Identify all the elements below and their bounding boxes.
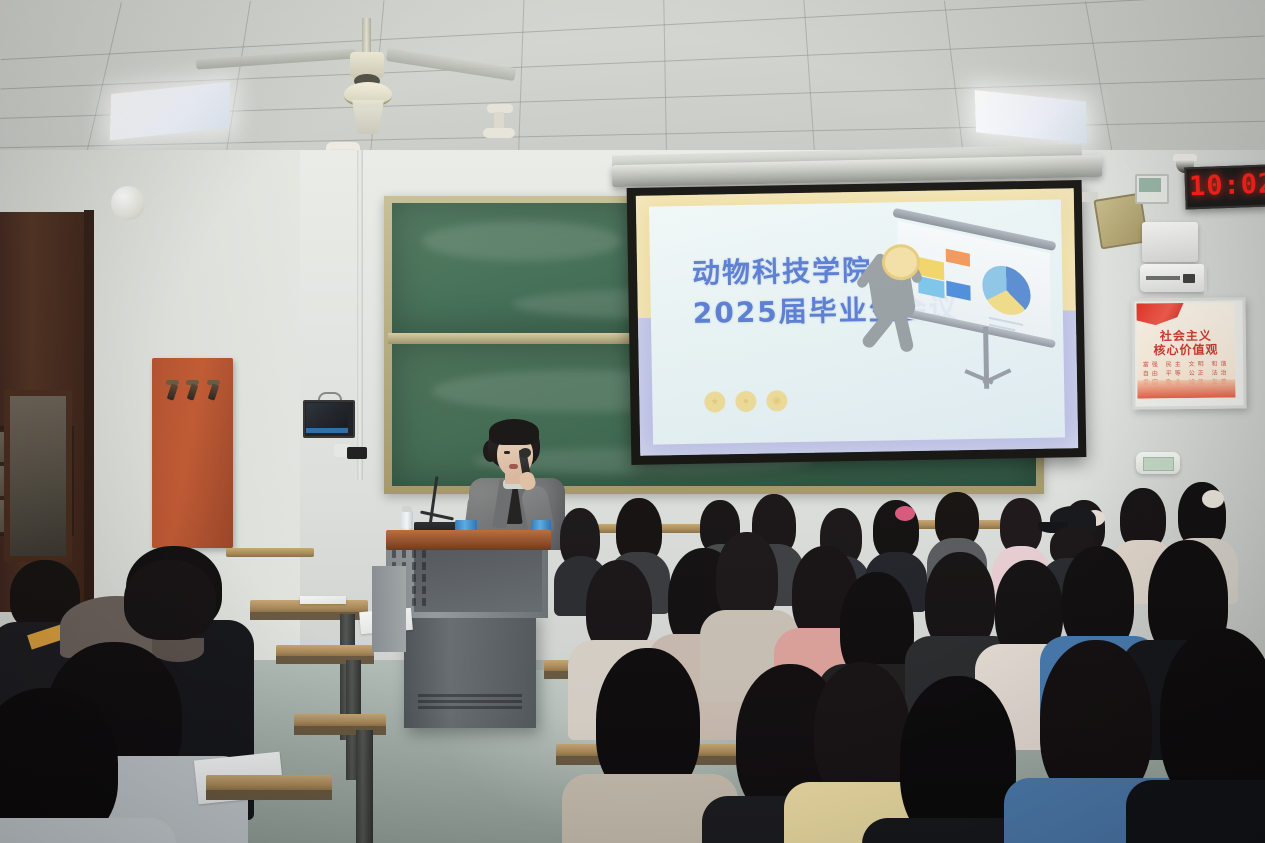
conduit-sensor [347,447,367,459]
wall-lamp-icon [111,186,145,220]
wall-monitor-screen [306,403,348,427]
desk-edge [206,790,332,800]
desk-leg [356,730,373,843]
poster-decoration-base [1137,379,1235,398]
router-indicator [1183,274,1195,283]
door-glass-pane [4,390,72,562]
podium-worktop [386,530,551,550]
podium-front-panel [414,546,542,612]
socialist-core-values-poster: 社会主义 核心价值观 富强 民主 文明 和谐 自由 平等 公正 法治 爱国 敬业… [1137,302,1236,398]
ceiling-fan-rod [362,18,371,56]
ceiling-mount-disc [483,128,515,138]
poster-heading-line-2: 核心价值观 [1137,340,1235,358]
door-frame [84,210,94,614]
thermostat-screen [1143,457,1174,471]
presenter-mouth [509,464,518,469]
panel-light [975,90,1088,144]
cap-brim [152,638,204,662]
hair-scrunchie [895,506,915,521]
hair-scrunchie [1202,490,1224,508]
podium-base [404,610,536,728]
desk [206,775,332,791]
equipment-cabinet [372,566,406,652]
panel-light [110,82,231,141]
presenter-hair-top [489,419,539,445]
globe-icon: ◉ [766,390,787,411]
router-slot [1146,276,1180,280]
digital-clock-time: 10:02 [1188,169,1265,203]
slide-inner-panel: 动物科技学院 2025届毕业生会议 ★ ● ◉ [649,199,1065,444]
coat-rack-board [152,358,233,548]
red-flag-icon [1137,302,1185,329]
wall-control-panel-screen [1139,178,1161,192]
projected-slide: 动物科技学院 2025届毕业生会议 ★ ● ◉ [636,188,1078,456]
slide-illustration [861,213,1064,406]
water-bottle-cap [402,506,412,512]
wall-monitor-strip [306,428,348,433]
wechat-icon: ● [735,391,756,412]
paper-sheet [300,596,346,604]
classroom-scene: 动物科技学院 2025届毕业生会议 ★ ● ◉ [0,0,1265,843]
desk [226,548,314,557]
av-receiver-box [1142,222,1198,262]
hanging-cable [1204,230,1207,308]
share-icon: ★ [704,391,725,412]
cable-conduit [357,150,363,480]
